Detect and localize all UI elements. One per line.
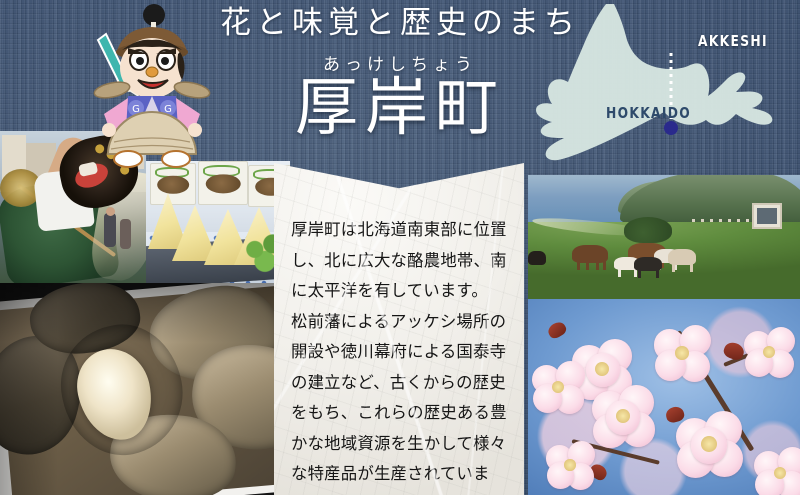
description-paragraph-1: 厚岸町は北海道南東部に位置し、北に広大な酪農地帯、南に太平洋を有しています。 [291,215,510,307]
map-label-hokkaido: HOKKAIDO [606,104,691,122]
town-name-title: 厚岸町 [215,76,585,139]
photo-cheese-wedges [146,161,290,283]
akkeshi-mascot-character: G G [92,2,212,170]
description-body: 厚岸町は北海道南東部に位置し、北に広大な酪農地帯、南に太平洋を有しています。 松… [291,215,510,495]
map-label-akkeshi: AKKESHI [698,32,768,50]
headline-block: 花と味覚と歴史のまち あっけしちょう 厚岸町 [215,6,585,139]
photo-oysters-in-tray [0,283,290,495]
mascot-oyster-shoulder-right [173,79,211,100]
akkeshi-town-banner: HOKKAIDO AKKESHI 花と味覚と歴史のまち あっけしちょう 厚岸町 [0,0,800,495]
photo-cherry-blossoms [528,299,800,495]
tagline-text: 花と味覚と歴史のまち [215,6,585,42]
akkeshi-marker-dot [664,121,678,135]
photo-horses-coastal-pasture [528,175,800,299]
description-paragraph-2: 松前藩によるアッケシ場所の開設や徳川幕府による国泰寺の建立など、古くからの歴史を… [291,307,510,495]
description-panel: 厚岸町は北海道南東部に位置し、北に広大な酪農地帯、南に太平洋を有しています。 松… [274,163,524,495]
mascot-oyster-shoulder-left [93,79,131,100]
